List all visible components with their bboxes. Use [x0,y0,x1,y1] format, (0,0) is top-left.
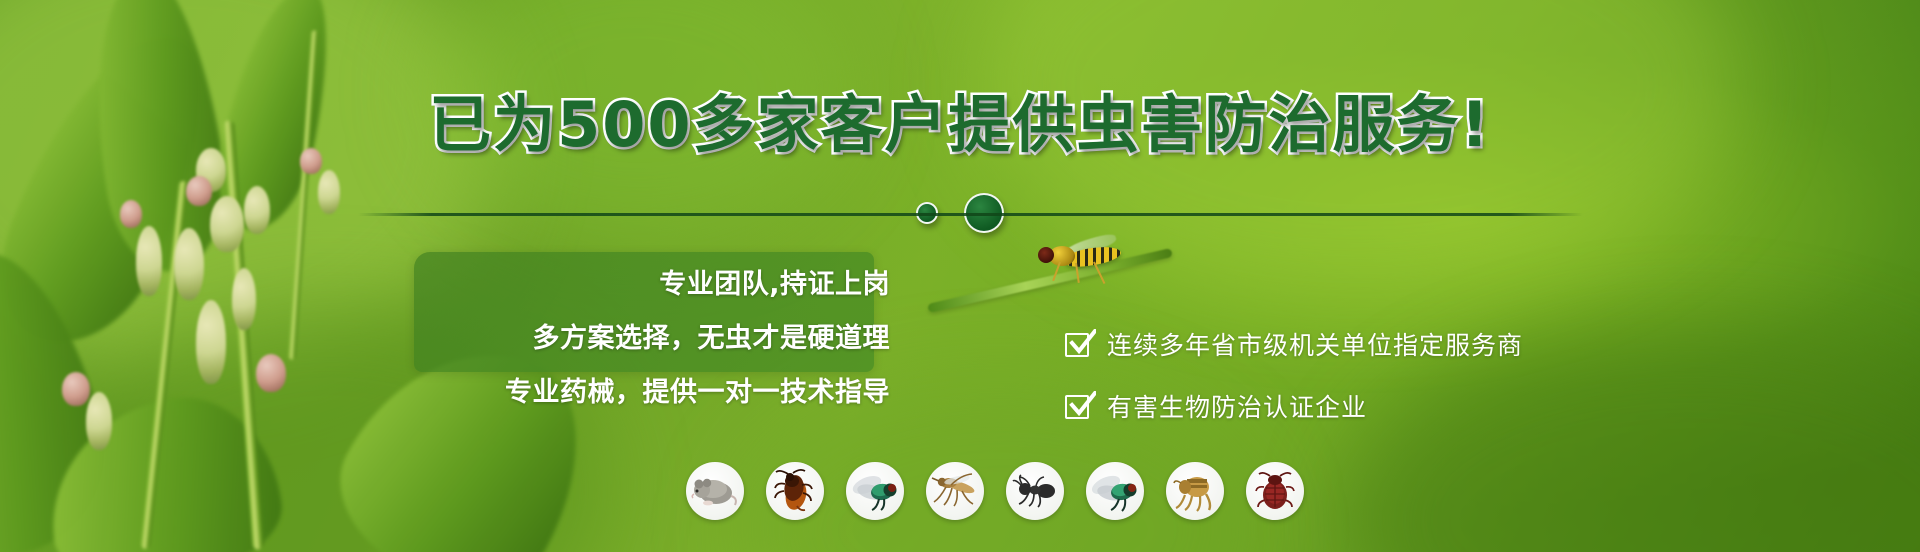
list-item: 有害生物防治认证企业 [1065,388,1523,424]
banner-hero: 已为500多家客户提供虫害防治服务! 专业团队,持证上岗 多方案选择，无虫才是硬… [0,0,1920,552]
feature-panel-text: 专业团队,持证上岗 多方案选择，无虫才是硬道理 专业药械，提供一对一技术指导 [330,262,890,409]
hoverfly-icon [1035,240,1155,296]
flea-icon[interactable] [1166,462,1224,520]
page-title-text: 已为500多家客户提供虫害防治服务! [429,88,1491,161]
divider [358,213,1583,216]
housefly-icon[interactable] [1086,462,1144,520]
credential-list: 连续多年省市级机关单位指定服务商 有害生物防治认证企业 [1065,326,1523,450]
mosquito-icon[interactable] [926,462,984,520]
feature-line-3: 专业药械，提供一对一技术指导 [330,370,890,409]
checkbox-check-icon [1065,330,1093,358]
list-item-label: 有害生物防治认证企业 [1107,388,1367,424]
ant-icon[interactable] [1006,462,1064,520]
mouse-icon[interactable] [686,462,744,520]
bedbug-icon[interactable] [1246,462,1304,520]
feature-line-1: 专业团队,持证上岗 [330,262,890,301]
list-item: 连续多年省市级机关单位指定服务商 [1065,326,1523,362]
feature-line-2: 多方案选择，无虫才是硬道理 [330,316,890,355]
page-title: 已为500多家客户提供虫害防治服务! [0,74,1920,164]
list-item-label: 连续多年省市级机关单位指定服务商 [1107,326,1523,362]
checkbox-check-icon [1065,392,1093,420]
fly-head [1038,247,1054,263]
pest-icon-row [686,462,1304,520]
blowfly-icon[interactable] [846,462,904,520]
cockroach-icon[interactable] [766,462,824,520]
